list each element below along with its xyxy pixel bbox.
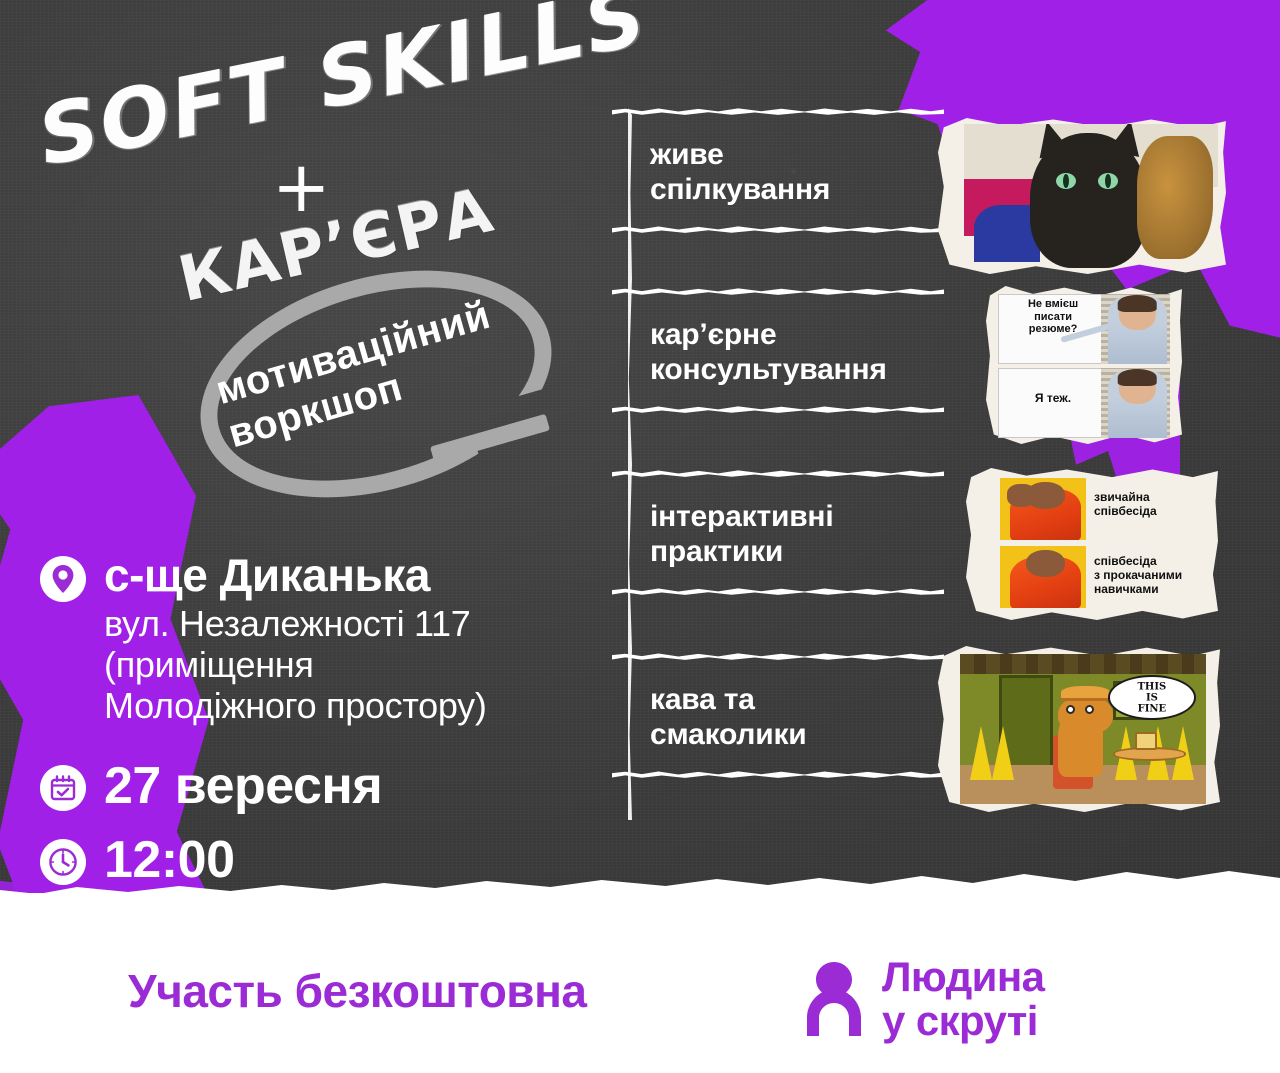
venue-row: с-ще Диканька вул. Незалежності 117 (при…	[40, 552, 610, 726]
chalk-line-divider	[612, 771, 944, 778]
drake-reject-panel	[1000, 478, 1086, 540]
room-ceiling	[960, 654, 1206, 674]
whiteboard-bottom-text: Я теж.	[1003, 392, 1103, 405]
flame-icon	[992, 726, 1014, 780]
man-hair	[1118, 369, 1157, 385]
drake-head	[1026, 550, 1066, 577]
brand-name-text: Людина у скруті	[882, 955, 1044, 1042]
cat-photo	[964, 124, 1218, 268]
event-time: 12:00	[104, 834, 235, 886]
chalk-line-divider	[612, 653, 944, 660]
black-cat	[1030, 133, 1147, 268]
dog-head	[1058, 696, 1112, 735]
date-row: 27 вересня	[40, 760, 610, 812]
man-body	[1108, 371, 1166, 438]
chalk-line-divider	[612, 226, 944, 233]
office-panel-bottom: Я теж.	[998, 368, 1170, 438]
chalk-line-divider	[612, 288, 944, 295]
drake-hand-blocking	[1007, 484, 1036, 506]
clock-icon	[40, 839, 86, 885]
venue-text-group: с-ще Диканька вул. Незалежності 117 (при…	[104, 552, 487, 726]
drake-accept-panel	[1000, 546, 1086, 608]
speech-bubble: THIS IS FINE	[1108, 675, 1197, 720]
speech-bubble-text: THIS IS FINE	[1131, 681, 1173, 714]
flame-icon	[970, 726, 992, 780]
chalk-line-divider	[612, 406, 944, 413]
feature-list: живе спілкування кар’єрне консультування…	[612, 108, 972, 820]
feature-label: кар’єрне консультування	[650, 318, 887, 388]
orange-cat	[1137, 136, 1213, 260]
free-participation-text: Участь безкоштовна	[128, 968, 586, 1014]
office-panel-top: Не вмієш писати резюме?	[998, 294, 1170, 364]
feature-label: інтерактивні практики	[650, 500, 834, 570]
venue-name: с-ще Диканька	[104, 549, 430, 601]
whiteboard-top-text: Не вмієш писати резюме?	[1003, 298, 1103, 335]
feature-label: кава та смаколики	[650, 683, 807, 753]
burning-room: THIS IS FINE	[960, 654, 1206, 804]
dog-hat	[1061, 686, 1110, 701]
person-figure-icon	[800, 957, 868, 1041]
man-body	[1108, 297, 1166, 364]
chalk-line-divider	[612, 108, 944, 115]
cat-eye-right	[1098, 173, 1118, 189]
poster-canvas: SOFT SKILLS + КАР’ЄРА мотиваційний воркш…	[0, 0, 1280, 1073]
coffee-cup	[1135, 732, 1157, 750]
dog-eye-left	[1066, 705, 1075, 714]
event-info-block: с-ще Диканька вул. Незалежності 117 (при…	[40, 552, 610, 886]
feature-label: живе спілкування	[650, 138, 830, 208]
location-pin-icon	[40, 556, 86, 602]
time-row: 12:00	[40, 834, 610, 886]
this-is-fine-meme: THIS IS FINE	[938, 646, 1220, 812]
calendar-icon	[40, 765, 86, 811]
cat-eye-left	[1056, 173, 1076, 189]
man-hair	[1118, 295, 1157, 311]
event-date: 27 вересня	[104, 760, 382, 812]
drake-accept-text: співбесіда з прокачаними навичками	[1094, 554, 1182, 596]
office-whiteboard-meme: Не вмієш писати резюме? Я теж.	[986, 286, 1182, 444]
chalk-vertical-line	[628, 108, 632, 820]
drake-meme: звичайна співбесіда співбесіда з прокача…	[966, 468, 1218, 620]
chalk-line-divider	[612, 588, 944, 595]
venue-address: вул. Незалежності 117 (приміщення Молоді…	[104, 603, 487, 726]
brand-logo: Людина у скруті	[800, 955, 1044, 1042]
drake-reject-text: звичайна співбесіда	[1094, 490, 1157, 518]
two-cats-meme	[938, 118, 1226, 274]
chalk-line-divider	[612, 470, 944, 477]
